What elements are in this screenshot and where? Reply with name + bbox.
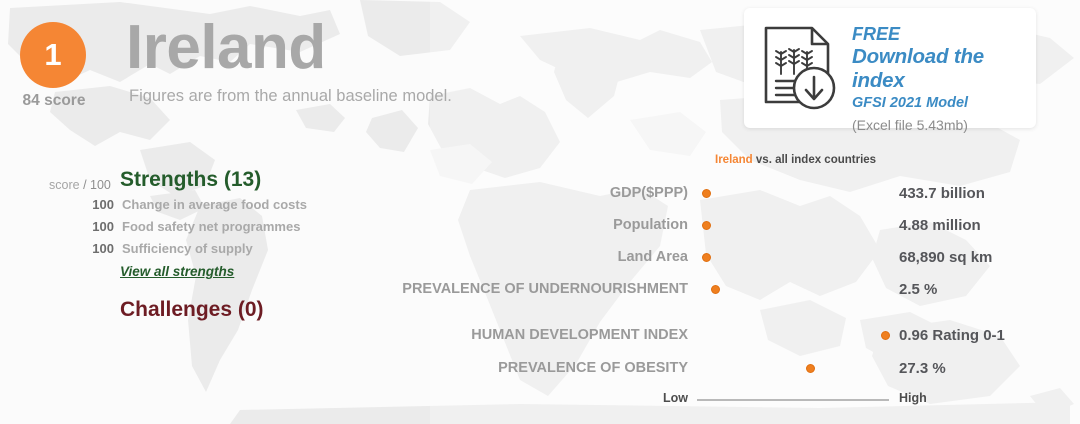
- scale-high-label: High: [899, 391, 927, 405]
- strength-score: 100: [76, 194, 114, 216]
- strength-score: 100: [76, 238, 114, 260]
- overall-score-label: 84 score: [10, 92, 98, 110]
- score-scale-caption: score / 100: [49, 178, 111, 192]
- strength-score: 100: [76, 216, 114, 238]
- strength-row[interactable]: 100Change in average food costs: [76, 194, 336, 216]
- comparison-country: Ireland: [715, 154, 753, 166]
- download-index-card[interactable]: FREE Download the index GFSI 2021 Model …: [744, 8, 1036, 128]
- download-free-label: FREE: [852, 24, 1032, 45]
- strengths-list: 100Change in average food costs100Food s…: [76, 194, 336, 260]
- scale-line: [697, 399, 889, 401]
- rank-badge: 1: [20, 22, 86, 88]
- score-scale-prefix: score: [49, 178, 80, 192]
- download-filesize-label: (Excel file 5.43mb): [852, 114, 1032, 136]
- strength-label: Food safety net programmes: [122, 216, 300, 238]
- comparison-suffix: vs. all index countries: [753, 154, 876, 166]
- strength-row[interactable]: 100Sufficiency of supply: [76, 238, 336, 260]
- view-all-strengths-link[interactable]: View all strengths: [120, 264, 234, 279]
- download-model-label: GFSI 2021 Model: [852, 93, 1032, 114]
- challenges-heading: Challenges (0): [120, 298, 264, 322]
- score-scale-suffix: / 100: [83, 178, 111, 192]
- page-subtitle: Figures are from the annual baseline mod…: [129, 87, 452, 106]
- document-download-icon: [760, 24, 842, 112]
- scale-low-label: Low: [600, 391, 688, 405]
- download-title: Download the index: [852, 45, 1032, 93]
- strengths-heading: Strengths (13): [120, 168, 261, 192]
- comparison-header: Ireland vs. all index countries: [715, 154, 876, 166]
- strength-row[interactable]: 100Food safety net programmes: [76, 216, 336, 238]
- rank-number: 1: [20, 22, 86, 88]
- strength-label: Change in average food costs: [122, 194, 307, 216]
- country-profile-page: 1 84 score Ireland Figures are from the …: [0, 0, 1080, 424]
- country-name: Ireland: [126, 14, 326, 82]
- download-card-text: FREE Download the index GFSI 2021 Model …: [852, 24, 1032, 136]
- strength-label: Sufficiency of supply: [122, 238, 253, 260]
